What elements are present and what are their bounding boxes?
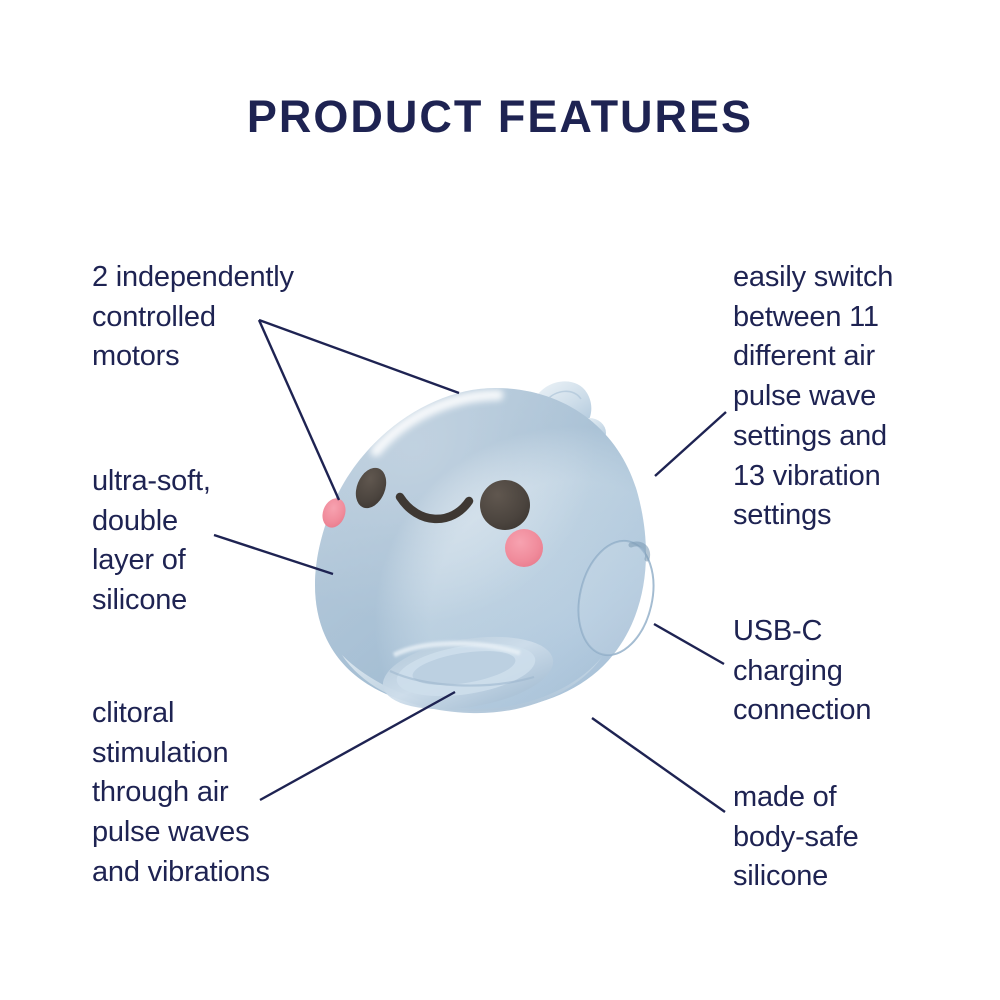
callout-clitoral-line-4: pulse waves [92,813,392,853]
callout-settings-line-1: easily switch [733,258,983,298]
callout-clitoral-line-2: stimulation [92,734,392,774]
callout-silicone-layer-line-2: double [92,502,372,542]
callout-bodysafe-line-3: silicone [733,857,983,897]
callout-clitoral-stimulation: clitoral stimulation through air pulse w… [92,694,392,893]
callout-usbc-line-1: USB-C [733,612,983,652]
callout-silicone-layer-line-3: layer of [92,541,372,581]
callout-silicone-layer: ultra-soft, double layer of silicone [92,462,372,621]
callout-clitoral-line-1: clitoral [92,694,392,734]
callout-usbc-line-2: charging [733,652,983,692]
callout-usbc-charging: USB-C charging connection [733,612,983,731]
callout-bodysafe-line-1: made of [733,778,983,818]
callout-motors-line-1: 2 independently [92,258,392,298]
callout-motors-line-3: motors [92,337,392,377]
callout-usbc-line-3: connection [733,691,983,731]
callout-silicone-layer-line-4: silicone [92,581,372,621]
callout-clitoral-line-3: through air [92,773,392,813]
callout-settings: easily switch between 11 different air p… [733,258,983,536]
callout-motors: 2 independently controlled motors [92,258,392,377]
callout-silicone-layer-line-1: ultra-soft, [92,462,372,502]
callout-bodysafe-line-2: body-safe [733,818,983,858]
product-features-infographic: PRODUCT FEATURES [0,0,1000,1000]
callout-settings-line-4: pulse wave [733,377,983,417]
callout-settings-line-3: different air [733,337,983,377]
callout-settings-line-7: settings [733,496,983,536]
callout-clitoral-line-5: and vibrations [92,853,392,893]
right-eye [480,480,530,530]
callout-motors-line-2: controlled [92,298,392,338]
callout-settings-line-5: settings and [733,417,983,457]
callout-settings-line-2: between 11 [733,298,983,338]
callout-body-safe-silicone: made of body-safe silicone [733,778,983,897]
right-blush [505,529,543,567]
page-title: PRODUCT FEATURES [0,94,1000,139]
callout-settings-line-6: 13 vibration [733,457,983,497]
